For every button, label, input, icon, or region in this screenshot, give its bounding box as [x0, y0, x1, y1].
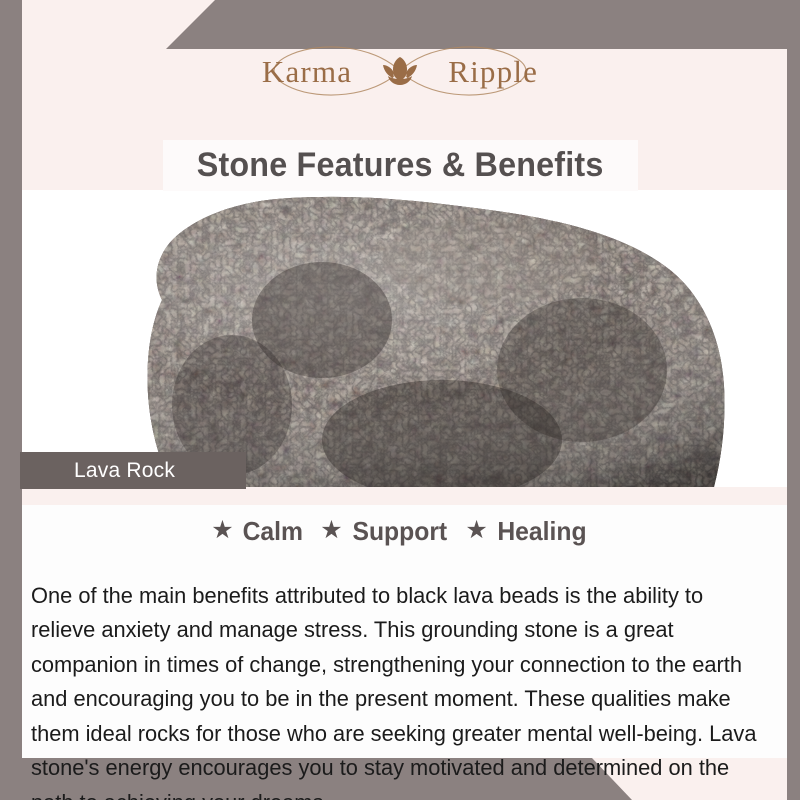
- brand-logo: Karma Ripple: [250, 40, 550, 102]
- star-icon: ★: [465, 518, 487, 543]
- benefit-item-support: ★ Support: [320, 516, 449, 547]
- star-icon: ★: [320, 518, 342, 543]
- star-icon: ★: [211, 518, 233, 543]
- brand-header: Karma Ripple: [0, 0, 800, 128]
- description-paragraph: One of the main benefits attributed to b…: [31, 579, 770, 800]
- lotus-icon: [377, 54, 423, 88]
- stone-name-bar: Lava Rock: [20, 452, 246, 489]
- page-title: Stone Features & Benefits: [197, 146, 604, 185]
- brand-name-right: Ripple: [448, 56, 538, 87]
- benefit-label-support: Support: [352, 516, 447, 547]
- benefits-row: ★ Calm ★ Support ★ Healing: [0, 516, 800, 547]
- lava-rock-image: [22, 190, 787, 487]
- stone-name-label: Lava Rock: [20, 459, 175, 483]
- benefit-item-calm: ★ Calm: [211, 516, 304, 547]
- benefit-label-healing: Healing: [497, 516, 586, 547]
- brand-name-left: Karma: [262, 56, 352, 87]
- stone-benefits-infographic: Karma Ripple: [0, 0, 800, 800]
- lava-rock-photo: [22, 190, 787, 487]
- benefit-item-healing: ★ Healing: [465, 516, 588, 547]
- title-banner: Stone Features & Benefits: [163, 140, 638, 191]
- benefit-label-calm: Calm: [242, 516, 302, 547]
